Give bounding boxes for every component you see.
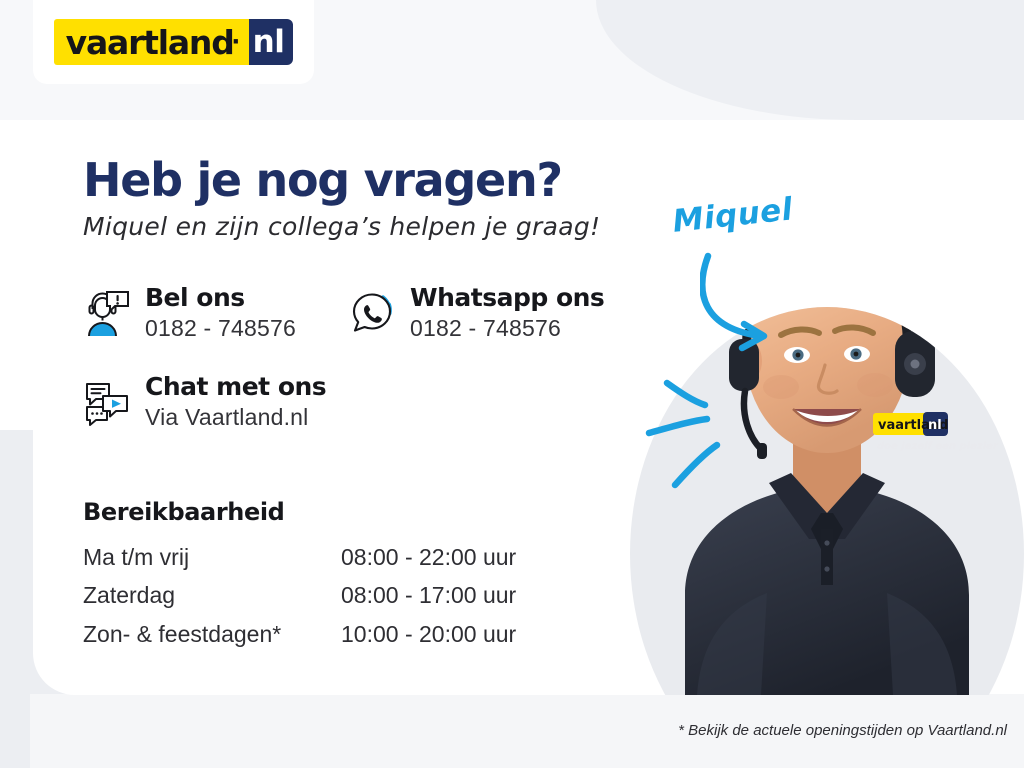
contact-item-whatsapp[interactable]: Whatsapp ons 0182 - 748576	[348, 283, 604, 344]
logo-yellow-block: vaartland ·	[54, 19, 249, 65]
hours-day: Zon- & feestdagen*	[83, 622, 341, 660]
hours-heading: Bereikbaarheid	[83, 498, 284, 526]
table-row: Ma t/m vrij 08:00 - 22:00 uur	[83, 545, 571, 583]
logo-tld: nl	[253, 27, 285, 58]
site-logo[interactable]: vaartland · nl	[33, 0, 314, 84]
contact-title-phone: Bel ons	[145, 283, 296, 313]
footnote-text: * Bekijk de actuele openingstijden op Va…	[0, 722, 1007, 739]
hours-day: Ma t/m vrij	[83, 545, 341, 583]
background-shape-top-right	[596, 0, 1024, 120]
contact-text-phone: Bel ons 0182 - 748576	[145, 283, 296, 344]
contact-text-chat: Chat met ons Via Vaartland.nl	[145, 372, 326, 433]
contact-item-chat[interactable]: Chat met ons Via Vaartland.nl	[83, 372, 326, 433]
logo-dot: ·	[232, 27, 242, 57]
contact-value-whatsapp: 0182 - 748576	[410, 313, 604, 344]
page-title: Heb je nog vragen?	[83, 153, 562, 207]
contact-value-chat: Via Vaartland.nl	[145, 402, 326, 433]
svg-text:nl: nl	[928, 418, 942, 433]
whatsapp-icon	[348, 289, 396, 339]
hours-time: 10:00 - 20:00 uur	[341, 622, 571, 660]
opening-hours-table: Ma t/m vrij 08:00 - 22:00 uur Zaterdag 0…	[83, 545, 571, 660]
contact-text-whatsapp: Whatsapp ons 0182 - 748576	[410, 283, 604, 344]
logo-navy-block: nl	[249, 19, 294, 65]
svg-text:doe jezelf een plezier: doe jezelf een plezier	[877, 441, 999, 452]
table-row: Zaterdag 08:00 - 17:00 uur	[83, 583, 571, 621]
chat-bubbles-icon	[83, 378, 131, 428]
page-subtitle: Miquel en zijn collega’s helpen je graag…	[83, 212, 600, 241]
motion-dashes-icon	[645, 365, 755, 495]
contact-title-chat: Chat met ons	[145, 372, 326, 402]
headset-agent-icon	[83, 289, 131, 339]
hours-time: 08:00 - 17:00 uur	[341, 583, 571, 621]
hours-day: Zaterdag	[83, 583, 341, 621]
logo-wordmark: vaartland	[66, 26, 234, 59]
contact-value-phone: 0182 - 748576	[145, 313, 296, 344]
curved-arrow-right-icon	[700, 250, 810, 360]
table-row: Zon- & feestdagen* 10:00 - 20:00 uur	[83, 622, 571, 660]
contact-title-whatsapp: Whatsapp ons	[410, 283, 604, 313]
hours-time: 08:00 - 22:00 uur	[341, 545, 571, 583]
promo-banner: vaartland · nl Heb je nog vragen? Miquel…	[0, 0, 1024, 768]
contact-item-phone[interactable]: Bel ons 0182 - 748576	[83, 283, 296, 344]
logo-lockup: vaartland · nl	[54, 19, 294, 65]
